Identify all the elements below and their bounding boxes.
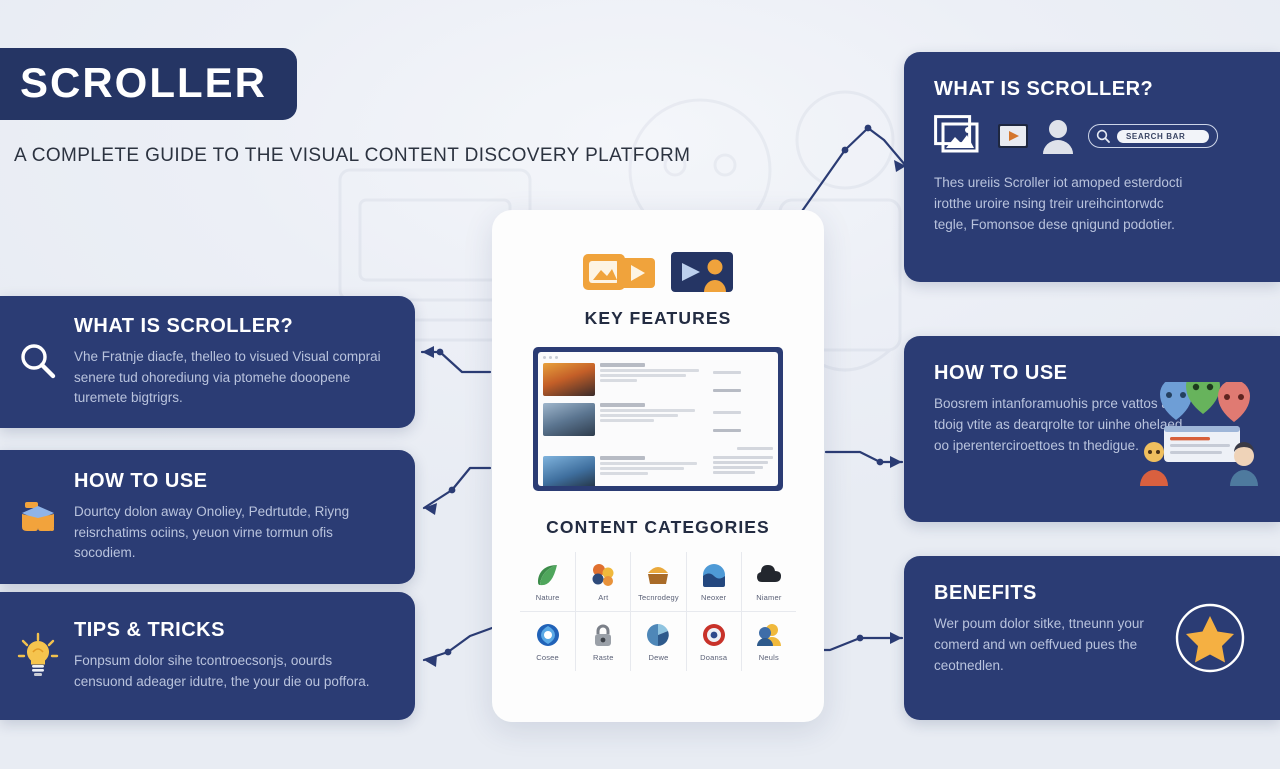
logo-text: SCROLLER: [20, 62, 267, 104]
card-body: Wer poum dolor sitke, ttneunn your comer…: [934, 614, 1192, 677]
category-label: Neuls: [759, 653, 779, 662]
preview-text-lines: [600, 363, 708, 384]
left-card-what-is-scroller[interactable]: WHAT IS SCROLLER? Vhe Fratnje diacfe, th…: [0, 296, 415, 428]
preview-row: [543, 363, 773, 399]
card-body: Vhe Fratnje diacfe, thelleo to visued Vi…: [74, 347, 391, 410]
content-categories-heading: CONTENT CATEGORIES: [492, 517, 824, 538]
people-icon: [756, 622, 782, 648]
preview-thumbnail: [543, 363, 595, 396]
preview-row: [543, 403, 773, 452]
search-icon: [1096, 129, 1110, 143]
category-cell[interactable]: Dewe: [630, 611, 685, 671]
preview-meta: [713, 456, 773, 476]
category-cell[interactable]: Niamer: [741, 552, 796, 611]
preview-text-lines: [600, 456, 708, 477]
image-play-icon: [583, 250, 655, 294]
target-icon: [701, 622, 727, 648]
category-cell[interactable]: Tecnrodegy: [630, 552, 685, 611]
card-title: HOW TO USE: [74, 470, 391, 493]
avatar-pins-art: [1138, 382, 1258, 486]
right-card-benefits[interactable]: BENEFITS Wer poum dolor sitke, ttneunn y…: [904, 556, 1280, 720]
center-card: KEY FEATURES: [492, 210, 824, 722]
preview-thumbnail: [543, 403, 595, 436]
preview-meta: [713, 403, 773, 452]
preview-meta: [713, 363, 773, 399]
category-label: Niamer: [756, 593, 781, 602]
cloud-dark-icon: [756, 562, 782, 588]
category-cell[interactable]: Neoxer: [686, 552, 741, 611]
preview-thumbnail: [543, 456, 595, 486]
category-cell[interactable]: Cosee: [520, 611, 575, 671]
card-body: Fonpsum dolor sihe tcontroecsonjs, oourd…: [74, 651, 391, 693]
key-features-heading: KEY FEATURES: [492, 308, 824, 329]
lightbulb-icon: [14, 632, 62, 680]
category-label: Cosee: [536, 653, 559, 662]
magnifier-icon: [14, 338, 62, 386]
category-label: Tecnrodegy: [638, 593, 679, 602]
card-title: WHAT IS SCROLLER?: [934, 78, 1254, 101]
folder-box-icon: [14, 493, 62, 541]
category-label: Neoxer: [701, 593, 726, 602]
preview-row: [543, 456, 773, 486]
category-cell[interactable]: Nature: [520, 552, 575, 611]
image-icon: [934, 115, 984, 157]
content-categories-grid: Nature Art Tecnrodegy Neoxer Niamer Cose…: [520, 552, 796, 671]
logo-badge: SCROLLER: [0, 48, 297, 120]
palette-icon: [590, 562, 616, 588]
left-card-how-to-use[interactable]: HOW TO USE Dourtcy dolon away Onoliey, P…: [0, 450, 415, 584]
search-bar[interactable]: SEARCH BAR: [1088, 124, 1218, 148]
category-cell[interactable]: Neuls: [741, 611, 796, 671]
app-preview-mockup: [533, 347, 783, 491]
leaf-icon: [535, 562, 561, 588]
left-card-tips-and-tricks[interactable]: TIPS & TRICKS Fonpsum dolor sihe tcontro…: [0, 592, 415, 720]
category-cell[interactable]: Art: [575, 552, 630, 611]
category-cell[interactable]: Doansa: [686, 611, 741, 671]
page-subtitle: A COMPLETE GUIDE TO THE VISUAL CONTENT D…: [14, 145, 690, 167]
preview-text-lines: [600, 403, 708, 424]
chart-icon: [645, 622, 671, 648]
person-icon: [1042, 118, 1074, 154]
window-dots: [543, 356, 773, 359]
lock-icon: [590, 622, 616, 648]
wave-icon: [701, 562, 727, 588]
what-is-scroller-icon-row: SEARCH BAR: [934, 115, 1254, 157]
video-person-icon: [671, 252, 733, 292]
app-preview-inner: [538, 352, 778, 486]
card-title: WHAT IS SCROLLER?: [74, 315, 391, 338]
category-label: Doansa: [700, 653, 727, 662]
video-player-icon: [998, 124, 1028, 148]
star-badge-icon: [1174, 602, 1246, 674]
basket-icon: [645, 562, 671, 588]
card-body: Dourtcy dolon away Onoliey, Pedrtutde, R…: [74, 502, 391, 565]
right-card-how-to-use[interactable]: HOW TO USE Boosrem intanforamuohis prce …: [904, 336, 1280, 522]
search-bar-label: SEARCH BAR: [1117, 130, 1209, 143]
category-label: Nature: [536, 593, 560, 602]
category-label: Dewe: [649, 653, 669, 662]
category-cell[interactable]: Raste: [575, 611, 630, 671]
category-label: Art: [598, 593, 608, 602]
card-title: TIPS & TRICKS: [74, 619, 391, 642]
key-features-icon-row: [492, 250, 824, 294]
card-body: Thes ureiis Scroller iot amoped esterdoc…: [934, 173, 1192, 236]
right-card-what-is-scroller[interactable]: WHAT IS SCROLLER? SEARCH BAR Thes ureiis…: [904, 52, 1280, 282]
category-label: Raste: [593, 653, 614, 662]
globe-icon: [535, 622, 561, 648]
